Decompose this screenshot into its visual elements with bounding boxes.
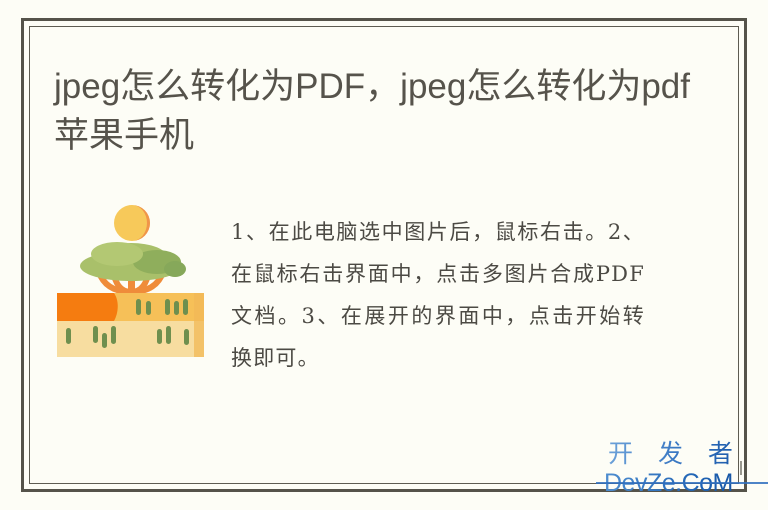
watermark-strike-line: [596, 482, 768, 484]
savanna-acacia-tree-illustration: [57, 200, 204, 357]
site-watermark: 开 发 者 DevZe.CoM: [604, 440, 764, 506]
watermark-tick-mark: [740, 461, 742, 475]
watermark-en-text: DevZe.CoM: [604, 468, 764, 498]
article-body: 1、在此电脑选中图片后，鼠标右击。2、在鼠标右击界面中，点击多图片合成PDF文档…: [231, 211, 645, 379]
article-card: jpeg怎么转化为PDF，jpeg怎么转化为pdf 苹果手机: [0, 0, 768, 510]
page-title: jpeg怎么转化为PDF，jpeg怎么转化为pdf 苹果手机: [54, 62, 694, 160]
